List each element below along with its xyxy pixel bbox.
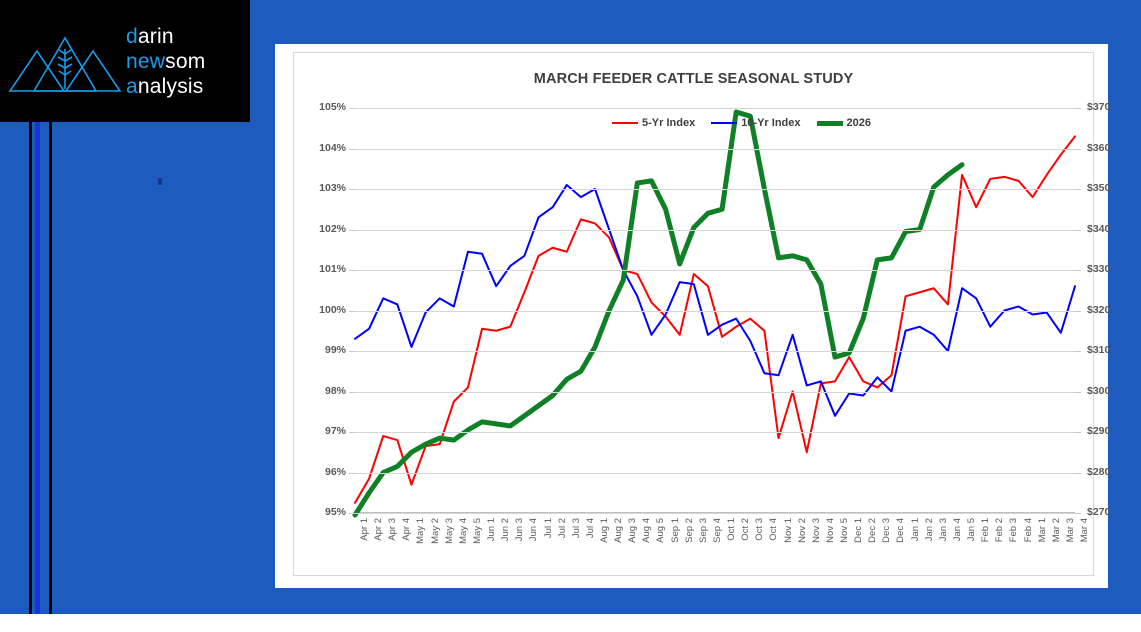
x-axis-label: Feb 1 [980, 518, 991, 542]
y-axis-left-tick-mark [349, 473, 355, 474]
x-axis-label: Sep 2 [684, 518, 695, 543]
x-axis-label: Feb 2 [994, 518, 1005, 542]
x-axis-label: Jun 2 [500, 518, 511, 541]
x-axis-label: Jan 4 [952, 518, 963, 541]
x-axis-label: Jul 4 [585, 518, 596, 538]
y-axis-right-label: $300 [1087, 385, 1110, 397]
x-axis-label: Oct 2 [740, 518, 751, 541]
gridline [355, 311, 1075, 312]
y-axis-right-tick-mark [1075, 270, 1081, 271]
legend-label: 2026 [847, 117, 871, 129]
x-axis-label: Dec 2 [867, 518, 878, 543]
x-axis-label: Feb 3 [1008, 518, 1019, 542]
y-axis-right-label: $330 [1087, 263, 1110, 275]
chart-legend: 5-Yr Index10-Yr Index2026 [612, 117, 871, 129]
gridline [355, 351, 1075, 352]
y-axis-right-tick-mark [1075, 351, 1081, 352]
logo-line2-accent2: w [150, 50, 165, 73]
y-axis-left-label: 102% [319, 223, 346, 235]
chart-card: MARCH FEEDER CATTLE SEASONAL STUDY 5-Yr … [275, 44, 1108, 588]
accent-rule-black-outer [29, 112, 32, 614]
y-axis-left-label: 96% [325, 466, 346, 478]
y-axis-left-label: 101% [319, 263, 346, 275]
brand-logo: darin newsom analysis [0, 0, 250, 122]
y-axis-right-label: $350 [1087, 182, 1110, 194]
x-axis-label: Apr 1 [359, 518, 370, 541]
y-axis-right-label: $360 [1087, 142, 1110, 154]
y-axis-left-tick-mark [349, 189, 355, 190]
x-axis-label: Aug 5 [655, 518, 666, 543]
y-axis-right-tick-mark [1075, 432, 1081, 433]
y-axis-left-label: 103% [319, 182, 346, 194]
y-axis-left-tick-mark [349, 108, 355, 109]
y-axis-left-tick-mark [349, 432, 355, 433]
y-axis-right-tick-mark [1075, 230, 1081, 231]
gridline [355, 149, 1075, 150]
x-axis-label: May 5 [472, 518, 483, 544]
series-line-5-yr-index [355, 136, 1075, 503]
y-axis-right-label: $370 [1087, 101, 1110, 113]
x-axis-label: Jul 3 [571, 518, 582, 538]
mountains-wheat-icon [6, 21, 124, 101]
x-axis-label: Aug 3 [627, 518, 638, 543]
y-axis-left-label: 97% [325, 425, 346, 437]
x-axis-label: Aug 4 [641, 518, 652, 543]
y-axis-left-label: 95% [325, 506, 346, 518]
x-axis-label: Jul 1 [543, 518, 554, 538]
x-axis-label: Nov 3 [811, 518, 822, 543]
legend-swatch-icon [817, 121, 843, 126]
logo-line3-accent: a [126, 75, 138, 98]
x-axis-label: Oct 4 [768, 518, 779, 541]
x-axis-label: Jul 2 [557, 518, 568, 538]
legend-item-10-yr-index[interactable]: 10-Yr Index [711, 117, 800, 129]
y-axis-left-label: 100% [319, 304, 346, 316]
y-axis-left-tick-mark [349, 270, 355, 271]
x-axis-label: Jan 3 [938, 518, 949, 541]
y-axis-left-tick-mark [349, 351, 355, 352]
x-axis-label: Dec 1 [853, 518, 864, 543]
x-axis-label: Apr 2 [373, 518, 384, 541]
y-axis-right-tick-mark [1075, 149, 1081, 150]
x-axis-label: Nov 1 [783, 518, 794, 543]
logo-line2-rest: som [165, 50, 205, 73]
legend-swatch-icon [711, 122, 737, 125]
y-axis-left-tick-mark [349, 149, 355, 150]
y-axis-right-tick-mark [1075, 108, 1081, 109]
x-axis-label: Jan 1 [910, 518, 921, 541]
x-axis-label: Nov 4 [825, 518, 836, 543]
logo-line2-accent: ne [126, 50, 150, 73]
x-axis-label: Feb 4 [1023, 518, 1034, 542]
x-axis-label: Mar 4 [1079, 518, 1090, 542]
plot-area: 95%$27096%$28097%$29098%$30099%$310100%$… [355, 108, 1075, 513]
x-axis-label: Apr 3 [387, 518, 398, 541]
logo-line1-rest: arin [138, 25, 174, 48]
y-axis-right-label: $320 [1087, 304, 1110, 316]
y-axis-left-label: 98% [325, 385, 346, 397]
y-axis-right-label: $290 [1087, 425, 1110, 437]
gridline [355, 270, 1075, 271]
x-axis-label: Mar 3 [1065, 518, 1076, 542]
x-axis-label: Sep 4 [712, 518, 723, 543]
x-axis-label: Oct 3 [754, 518, 765, 541]
y-axis-left-tick-mark [349, 392, 355, 393]
legend-label: 10-Yr Index [741, 117, 800, 129]
bottom-white-band [0, 614, 1141, 632]
y-axis-right-label: $280 [1087, 466, 1110, 478]
x-axis-label: Nov 2 [797, 518, 808, 543]
y-axis-left-label: 104% [319, 142, 346, 154]
y-axis-right-tick-mark [1075, 392, 1081, 393]
gridline [355, 473, 1075, 474]
series-line-10-yr-index [355, 185, 1075, 416]
logo-line3-rest: nalysis [138, 75, 204, 98]
legend-swatch-icon [612, 122, 638, 125]
gridline [355, 189, 1075, 190]
x-axis-label: May 4 [458, 518, 469, 544]
gridline [355, 513, 1075, 514]
x-axis-label: Jan 2 [924, 518, 935, 541]
slide-canvas: darin newsom analysis MARCH FEEDER CATTL… [0, 0, 1141, 632]
gridline [355, 108, 1075, 109]
x-axis-label: Nov 5 [839, 518, 850, 543]
logo-line1-accent: d [126, 25, 138, 48]
y-axis-right-label: $310 [1087, 344, 1110, 356]
gridline [355, 432, 1075, 433]
chart-title: MARCH FEEDER CATTLE SEASONAL STUDY [294, 71, 1093, 87]
x-axis-label: May 2 [430, 518, 441, 544]
accent-rule-black-inner [49, 112, 52, 614]
x-axis-label: Jan 5 [966, 518, 977, 541]
y-axis-right-tick-mark [1075, 513, 1081, 514]
y-axis-left-tick-mark [349, 230, 355, 231]
x-axis-label: Dec 3 [881, 518, 892, 543]
x-axis-label: Sep 1 [670, 518, 681, 543]
accent-rule-blue [35, 112, 40, 614]
chart-frame: MARCH FEEDER CATTLE SEASONAL STUDY 5-Yr … [293, 52, 1094, 576]
y-axis-right-tick-mark [1075, 473, 1081, 474]
legend-label: 5-Yr Index [642, 117, 695, 129]
mouse-cursor [158, 178, 162, 185]
x-axis-label: Apr 4 [401, 518, 412, 541]
x-axis-label: Oct 1 [726, 518, 737, 541]
y-axis-right-tick-mark [1075, 189, 1081, 190]
x-axis-label: Mar 1 [1037, 518, 1048, 542]
x-axis-label: Aug 2 [613, 518, 624, 543]
x-axis-label: Aug 1 [599, 518, 610, 543]
y-axis-left-tick-mark [349, 311, 355, 312]
y-axis-left-label: 105% [319, 101, 346, 113]
x-axis-label: Dec 4 [895, 518, 906, 543]
gridline [355, 230, 1075, 231]
x-axis-label: Jun 4 [528, 518, 539, 541]
y-axis-right-tick-mark [1075, 311, 1081, 312]
legend-item-5-yr-index[interactable]: 5-Yr Index [612, 117, 695, 129]
y-axis-left-label: 99% [325, 344, 346, 356]
x-axis-label: Sep 3 [698, 518, 709, 543]
x-axis-label: Jun 3 [514, 518, 525, 541]
series-line-2026 [355, 112, 962, 515]
x-axis-label: May 1 [415, 518, 426, 544]
x-axis-label: Mar 2 [1051, 518, 1062, 542]
legend-item-2026[interactable]: 2026 [817, 117, 871, 129]
y-axis-left-tick-mark [349, 513, 355, 514]
brand-wordmark: darin newsom analysis [126, 24, 205, 99]
y-axis-right-label: $340 [1087, 223, 1110, 235]
x-axis-label: Jun 1 [486, 518, 497, 541]
gridline [355, 392, 1075, 393]
y-axis-right-label: $270 [1087, 506, 1110, 518]
x-axis-label: May 3 [444, 518, 455, 544]
